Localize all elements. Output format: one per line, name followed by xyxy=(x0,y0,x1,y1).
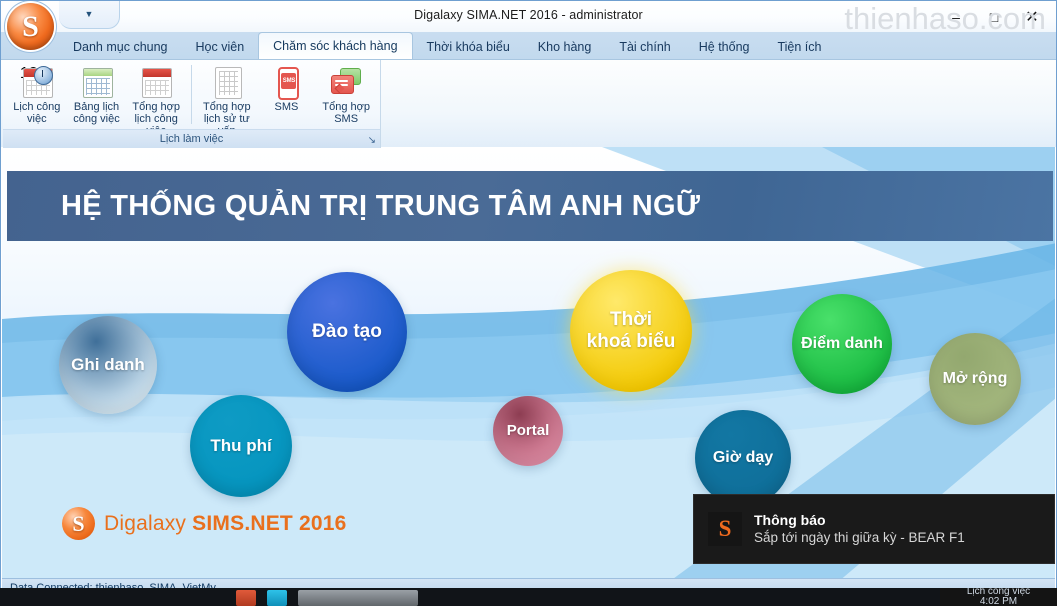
ribbon-button-0[interactable]: 12Lịch công việc xyxy=(7,63,67,125)
ribbon: Danh mục chungHọc viênChăm sóc khách hàn… xyxy=(1,32,1056,147)
chevron-down-icon[interactable]: ▼ xyxy=(85,10,94,19)
page-banner: HỆ THỐNG QUẢN TRỊ TRUNG TÂM ANH NGỮ xyxy=(7,171,1053,241)
ribbon-tabstrip: Danh mục chungHọc viênChăm sóc khách hàn… xyxy=(1,32,1056,59)
bubble-thoi-khoa-bieu[interactable]: Thờikhoá biểu xyxy=(570,270,692,392)
taskbar-icon-1[interactable] xyxy=(236,590,256,606)
ribbon-tab-5[interactable]: Tài chính xyxy=(605,35,684,59)
brand-logo: S Digalaxy SIMS.NET 2016 xyxy=(62,507,347,540)
bubble-label: Ghi danh xyxy=(65,355,151,375)
chat-bubbles-icon xyxy=(329,65,363,99)
ribbon-button-2[interactable]: Tổng hợp lịch công việc xyxy=(126,63,186,137)
ribbon-button-3[interactable]: Tổng hợp lịch sử tư vấn xyxy=(197,63,257,137)
application-window: thienhaso.com 0932 1166 79 Digalaxy SIMA… xyxy=(0,0,1057,598)
ribbon-group-title-label: Lịch làm việc xyxy=(160,133,224,145)
ribbon-separator xyxy=(191,65,192,124)
bubble-mo-rong[interactable]: Mở rộng xyxy=(929,333,1021,425)
bubble-label: Điểm danh xyxy=(795,335,889,353)
window-controls: – □ ✕ xyxy=(938,1,1050,32)
ribbon-button-4[interactable]: SMSSMS xyxy=(257,63,317,113)
taskbar-icon-2[interactable] xyxy=(267,590,287,606)
notification-body: Thông báo Sắp tới ngày thi giữa kỳ - BEA… xyxy=(754,512,965,546)
bubble-portal[interactable]: Portal xyxy=(493,396,563,466)
ribbon-tab-7[interactable]: Tiện ích xyxy=(763,35,835,59)
title-bar: Digalaxy SIMA.NET 2016 - administrator –… xyxy=(1,1,1056,32)
notification-logo-icon: S xyxy=(708,512,742,546)
ribbon-tab-0[interactable]: Danh mục chung xyxy=(59,35,182,59)
page-title: HỆ THỐNG QUẢN TRỊ TRUNG TÂM ANH NGỮ xyxy=(61,190,700,223)
notification-message: Sắp tới ngày thi giữa kỳ - BEAR F1 xyxy=(754,529,965,546)
dialog-launcher-icon[interactable]: ↘ xyxy=(368,135,376,146)
ribbon-tab-6[interactable]: Hệ thống xyxy=(685,35,764,59)
close-button[interactable]: ✕ xyxy=(1014,4,1050,30)
window-title: Digalaxy SIMA.NET 2016 - administrator xyxy=(1,8,1056,22)
bubble-ghi-danh[interactable]: Ghi danh xyxy=(59,316,157,414)
brand-name-bold: SIMS.NET 2016 xyxy=(192,512,346,535)
ribbon-tab-4[interactable]: Kho hàng xyxy=(524,35,606,59)
ribbon-button-1[interactable]: Bảng lịch công việc xyxy=(67,63,127,125)
ribbon-button-label: Bảng lịch công việc xyxy=(67,101,127,125)
sms-phone-icon: SMS xyxy=(269,65,303,99)
ribbon-group-title: Lịch làm việc ↘ xyxy=(3,129,380,148)
ribbon-button-label: SMS xyxy=(275,101,299,113)
bubble-label: Giờ dạy xyxy=(707,449,779,467)
calendar-icon xyxy=(139,65,173,99)
content-page: HỆ THỐNG QUẢN TRỊ TRUNG TÂM ANH NGỮ Ghi … xyxy=(2,147,1055,578)
spreadsheet-icon xyxy=(80,65,114,99)
application-orb-button[interactable]: S xyxy=(7,3,54,50)
ribbon-button-label: Tổng hợp SMS xyxy=(316,101,376,125)
bubble-label: Thờikhoá biểu xyxy=(581,309,682,353)
ribbon-group-items: 12Lịch công việcBảng lịch công việcTổng … xyxy=(3,60,380,128)
bubble-diem-danh[interactable]: Điểm danh xyxy=(792,294,892,394)
bubble-thu-phi[interactable]: Thu phí xyxy=(190,395,292,497)
bubble-label: Đào tạo xyxy=(306,321,388,343)
bubble-label: Portal xyxy=(501,422,556,439)
taskbar-icon-3[interactable] xyxy=(298,590,418,606)
ribbon-button-5[interactable]: Tổng hợp SMS xyxy=(316,63,376,125)
system-tray[interactable]: Lịch công việc 4:02 PM xyxy=(940,588,1057,606)
ribbon-tab-3[interactable]: Thời khóa biểu xyxy=(413,35,524,59)
tray-clock: 4:02 PM xyxy=(980,597,1017,606)
taskbar-icons xyxy=(236,590,418,606)
bubble-label: Mở rộng xyxy=(937,370,1014,388)
notification-title: Thông báo xyxy=(754,512,965,529)
notification-toast[interactable]: S Thông báo Sắp tới ngày thi giữa kỳ - B… xyxy=(693,494,1055,564)
ribbon-body: 12Lịch công việcBảng lịch công việcTổng … xyxy=(1,59,1056,147)
ribbon-button-label: Lịch công việc xyxy=(7,101,67,125)
brand-mark-icon: S xyxy=(62,507,95,540)
orb-logo-letter: S xyxy=(7,3,54,50)
maximize-button[interactable]: □ xyxy=(976,4,1012,30)
document-grid-icon xyxy=(210,65,244,99)
bubble-label: Thu phí xyxy=(204,436,277,456)
ribbon-tab-2[interactable]: Chăm sóc khách hàng xyxy=(258,32,412,59)
calendar-clock-icon: 12 xyxy=(20,65,54,99)
taskbar: Lịch công việc 4:02 PM xyxy=(0,588,1057,606)
bubble-gio-day[interactable]: Giờ dạy xyxy=(695,410,791,506)
ribbon-group-lich-lam-viec: 12Lịch công việcBảng lịch công việcTổng … xyxy=(3,60,381,148)
brand-name: Digalaxy SIMS.NET 2016 xyxy=(104,512,347,536)
bubble-dao-tao[interactable]: Đào tạo xyxy=(287,272,407,392)
quick-access-toolbar[interactable]: ▼ xyxy=(59,1,120,29)
brand-name-light: Digalaxy xyxy=(104,512,192,535)
minimize-button[interactable]: – xyxy=(938,4,974,30)
ribbon-tab-1[interactable]: Học viên xyxy=(182,35,259,59)
